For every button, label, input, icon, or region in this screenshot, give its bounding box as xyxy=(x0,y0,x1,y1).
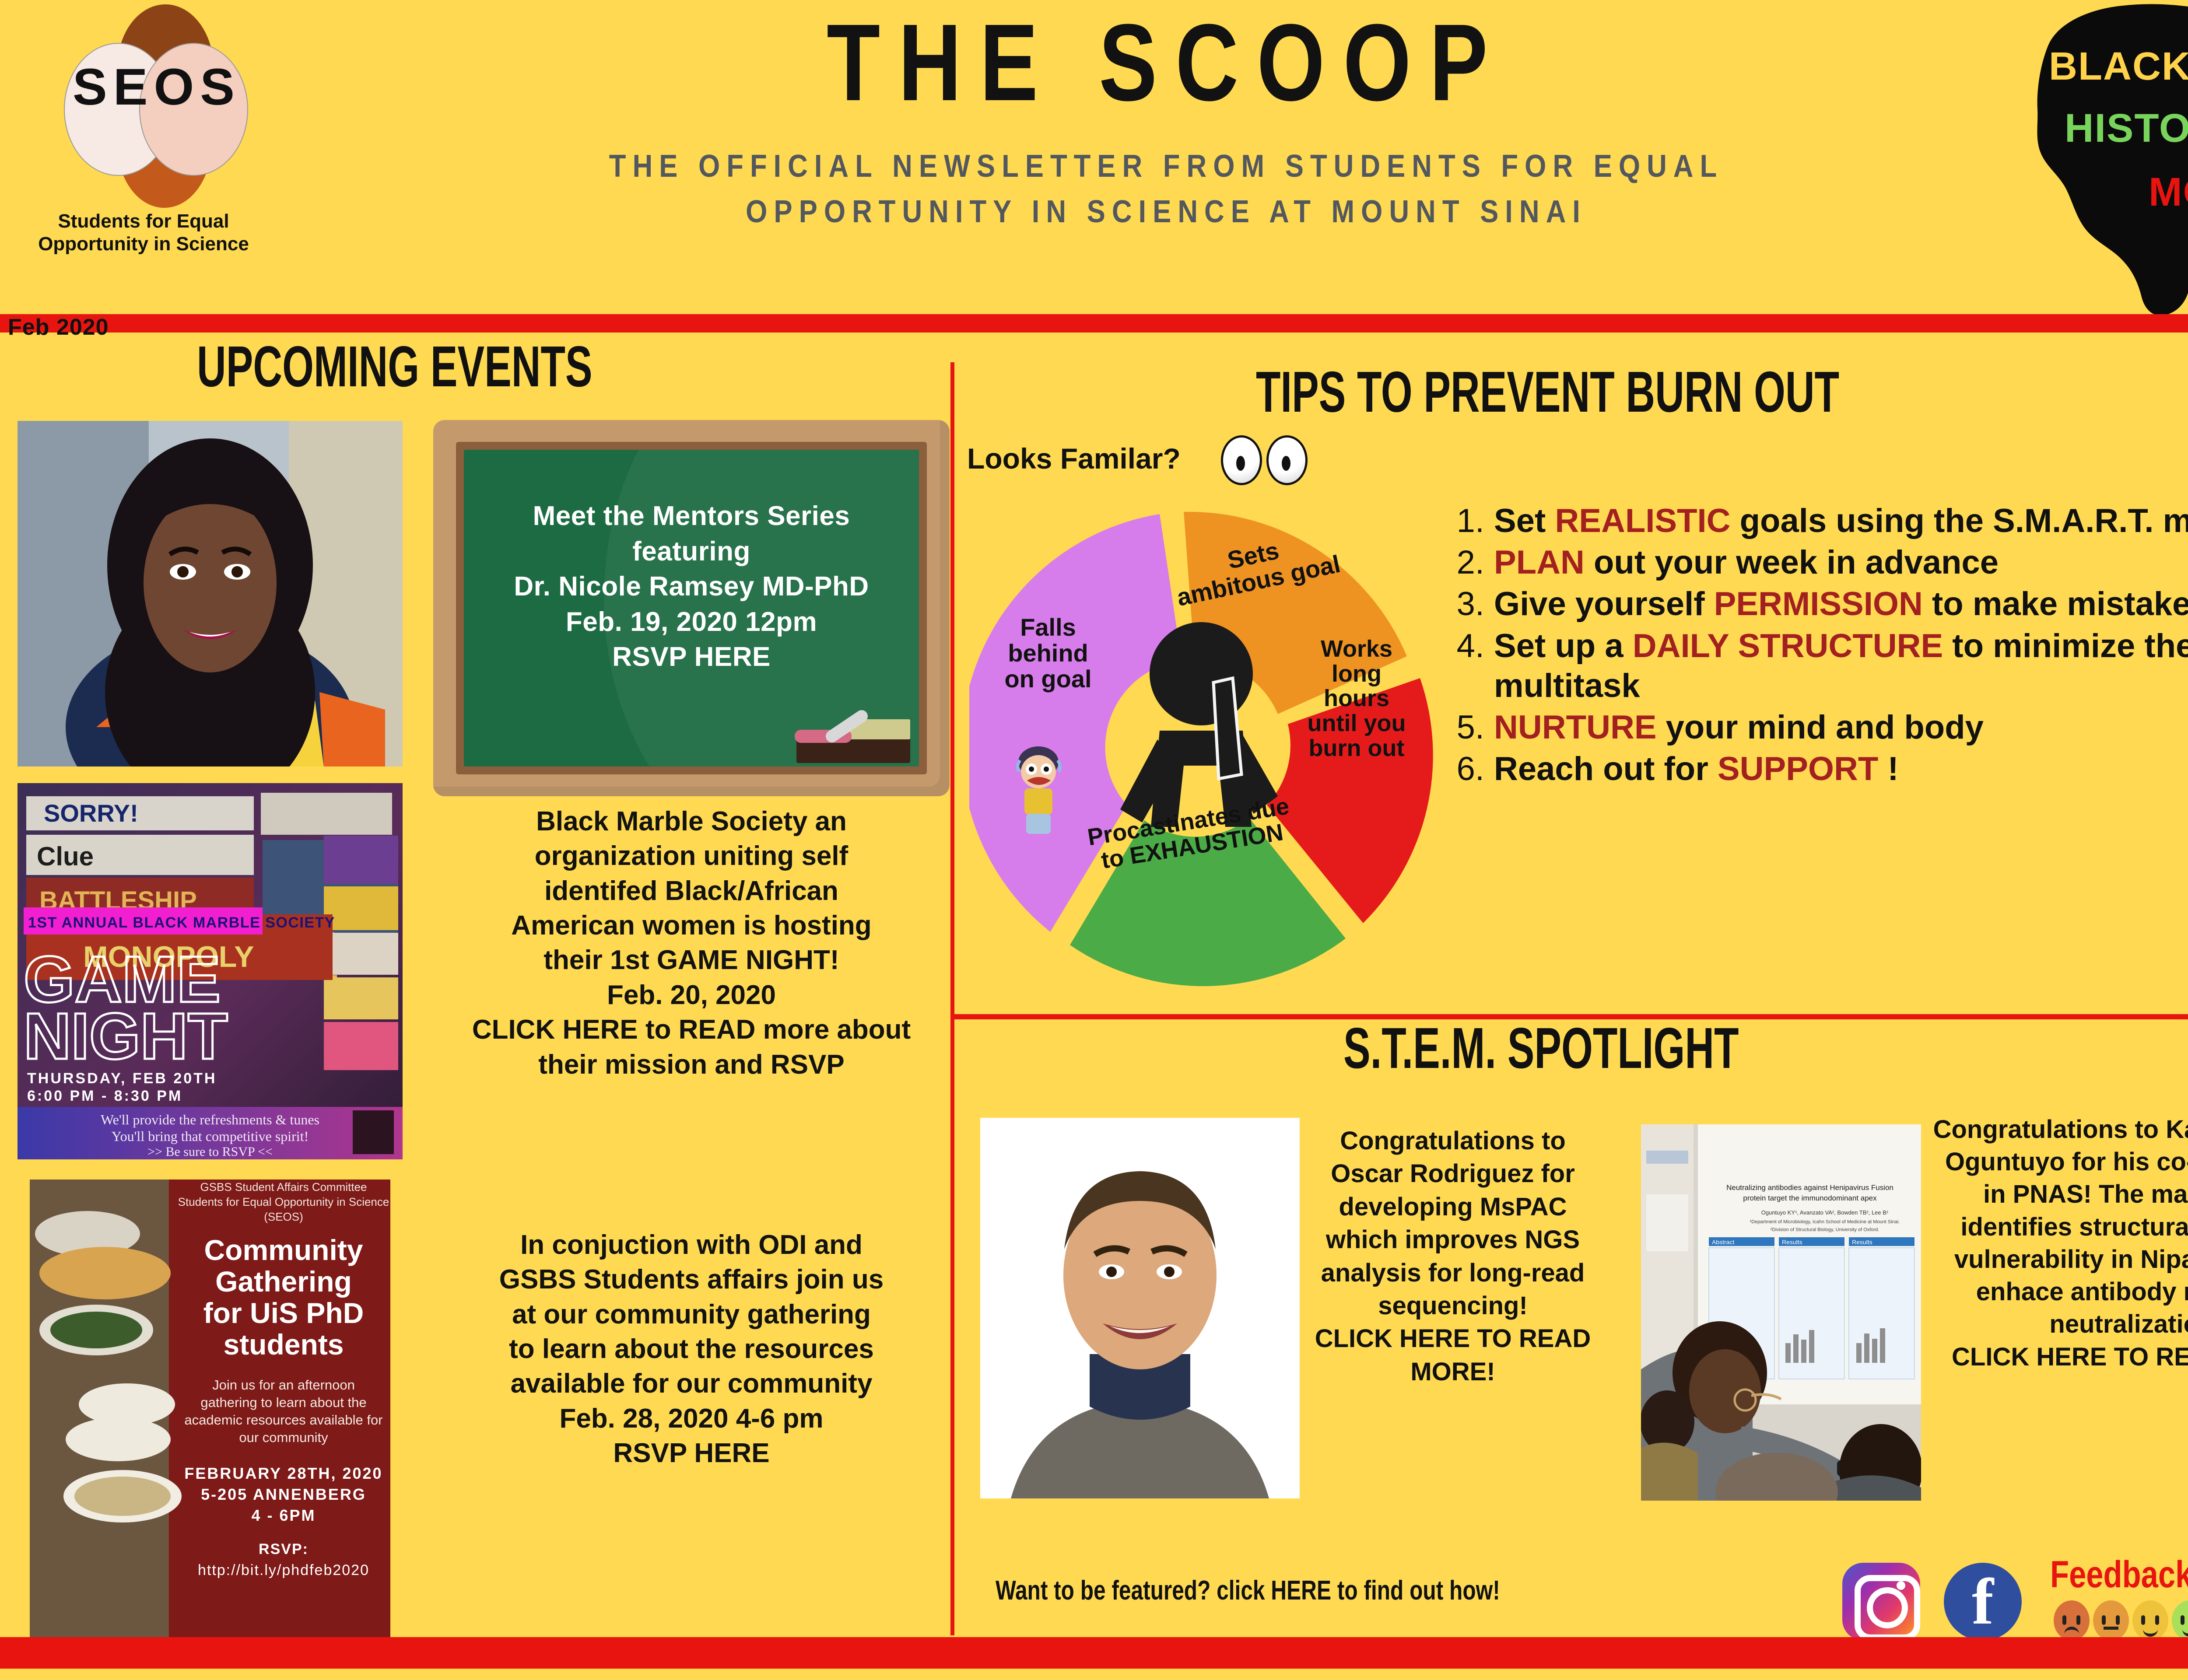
svg-text:THURSDAY, FEB 20TH: THURSDAY, FEB 20TH xyxy=(27,1070,217,1087)
svg-text:Join us for an afternoon: Join us for an afternoon xyxy=(212,1377,355,1393)
feedback-widget[interactable]: Feedback xyxy=(2050,1553,2188,1596)
tip-number: 2. xyxy=(1444,542,1494,582)
svg-text:Abstract: Abstract xyxy=(1712,1239,1734,1246)
tip-item: 3. Give yourself PERMISSION to make mist… xyxy=(1444,584,2188,624)
face-happy-icon[interactable] xyxy=(2172,1600,2188,1641)
chalkboard-text: Meet the Mentors Series featuring Dr. Ni… xyxy=(464,499,919,675)
tip-highlight: SUPPORT xyxy=(1718,750,1878,787)
tip-number: 5. xyxy=(1444,707,1494,747)
bms-line-1: Black Marble Society an xyxy=(414,804,969,839)
tip-number: 6. xyxy=(1444,749,1494,789)
svg-text:gathering to learn about the: gathering to learn about the xyxy=(200,1395,366,1410)
tip-item: 6. Reach out for SUPPORT ! xyxy=(1444,749,2188,789)
facebook-glyph: f xyxy=(1944,1563,2022,1641)
seos-logo: SEOS Students for Equal Opportunity in S… xyxy=(12,4,275,293)
tip-text: Give yourself PERMISSION to make mistake… xyxy=(1494,584,2188,624)
odi-line-1: In conjuction with ODI and xyxy=(414,1228,969,1262)
page-subtitle: THE OFFICIAL NEWSLETTER FROM STUDENTS FO… xyxy=(598,143,1734,235)
googly-eyes-icon xyxy=(1221,435,1306,483)
oscar-body: Congratulations to Oscar Rodriguez for d… xyxy=(1321,1127,1585,1320)
svg-text:our community: our community xyxy=(239,1430,328,1445)
instagram-icon[interactable] xyxy=(1842,1563,1920,1641)
tip-highlight: REALISTIC xyxy=(1555,502,1730,539)
page-title: THE SCOOP xyxy=(827,8,1506,117)
svg-text:²Division of Structural Biolog: ²Division of Structural Biology, Univers… xyxy=(1771,1227,1879,1232)
tip-number: 3. xyxy=(1444,584,1494,624)
eye-right-icon xyxy=(1266,435,1308,485)
svg-text:¹Department of Microbiology, I: ¹Department of Microbiology, Icahn Schoo… xyxy=(1750,1219,1900,1225)
chalk-line-1: Meet the Mentors Series xyxy=(464,499,919,534)
stick-figure-head xyxy=(1150,622,1253,725)
kaso-click-here-link[interactable]: CLICK HERE TO READ MORE! xyxy=(1932,1341,2188,1373)
issue-date: Feb 2020 xyxy=(8,314,109,340)
svg-text:Neutralizing antibodies agains: Neutralizing antibodies against Henipavi… xyxy=(1726,1183,1893,1192)
tip-number: 1. xyxy=(1444,501,1494,541)
facebook-icon[interactable]: f xyxy=(1944,1563,2022,1641)
bms-line-2: organization uniting self xyxy=(414,839,969,873)
chalk-line-3: Dr. Nicole Ramsey MD-PhD xyxy=(464,569,919,605)
looks-familiar-label: Looks Familar? xyxy=(967,442,1181,475)
section-title-stem-spotlight: S.T.E.M. SPOTLIGHT xyxy=(1343,1019,1908,1077)
tip-text: Set REALISTIC goals using the S.M.A.R.T.… xyxy=(1494,501,2188,541)
face-slight-smile-icon[interactable] xyxy=(2132,1600,2168,1641)
burnout-tips-list: 1. Set REALISTIC goals using the S.M.A.R… xyxy=(1444,501,2188,791)
tip-text: PLAN out your week in advance xyxy=(1494,542,1999,582)
footer-red-bar xyxy=(0,1637,2188,1669)
chalkboard-inner-frame: Meet the Mentors Series featuring Dr. Ni… xyxy=(456,442,927,774)
bms-line-8: their mission and RSVP xyxy=(414,1047,969,1082)
svg-text:http://bit.ly/phdfeb2020: http://bit.ly/phdfeb2020 xyxy=(198,1562,369,1578)
chalk-line-4: Feb. 19, 2020 12pm xyxy=(464,605,919,640)
tip-text: Reach out for SUPPORT ! xyxy=(1494,749,1899,789)
stem-oscar-text[interactable]: Congratulations to Oscar Rodriguez for d… xyxy=(1313,1124,1593,1388)
want-to-be-featured-link[interactable]: Want to be featured? click HERE to find … xyxy=(996,1575,1626,1606)
bms-line-3: identifed Black/African xyxy=(414,874,969,908)
oscar-click-here-link[interactable]: CLICK HERE TO READ MORE! xyxy=(1313,1322,1593,1388)
svg-text:4 - 6PM: 4 - 6PM xyxy=(251,1506,316,1524)
svg-text:(SEOS): (SEOS) xyxy=(264,1210,303,1223)
odi-line-2: GSBS Students affairs join us xyxy=(414,1262,969,1297)
bms-line-4: American women is hosting xyxy=(414,908,969,943)
svg-text:FEBRUARY 28TH, 2020: FEBRUARY 28TH, 2020 xyxy=(184,1464,382,1482)
odi-line-3: at our community gathering xyxy=(414,1297,969,1332)
bhm-line-3: MONTH xyxy=(2149,172,2188,212)
photo-oscar-rodriguez xyxy=(980,1118,1300,1498)
photo-nicole-ramsey xyxy=(18,421,403,766)
photo-kaso-poster-session: Neutralizing antibodies against Henipavi… xyxy=(1641,1124,1921,1501)
cycle-label-falls-behind: Falls behind on goal xyxy=(982,615,1114,692)
tip-number: 4. xyxy=(1444,626,1494,666)
tip-item: 4. Set up a DAILY STRUCTURE to minimize … xyxy=(1444,626,2188,706)
feedback-label: Feedback xyxy=(2050,1553,2188,1596)
odi-date: Feb. 28, 2020 4-6 pm xyxy=(414,1401,969,1436)
blurb-black-marble-society[interactable]: Black Marble Society an organization uni… xyxy=(414,804,969,1082)
svg-text:protein target the immunodomin: protein target the immunodominant apex xyxy=(1743,1194,1877,1202)
masthead: THE SCOOP THE OFFICIAL NEWSLETTER FROM S… xyxy=(521,8,1812,235)
bms-date: Feb. 20, 2020 xyxy=(414,978,969,1012)
tip-highlight: NURTURE xyxy=(1494,709,1657,746)
tip-item: 2. PLAN out your week in advance xyxy=(1444,542,2188,582)
section-title-burnout: TIPS TO PREVENT BURN OUT xyxy=(1256,363,2089,421)
chalkboard-mentors-event[interactable]: Meet the Mentors Series featuring Dr. Ni… xyxy=(433,420,950,796)
logo-wordmark: SEOS xyxy=(65,61,249,113)
svg-text:Students for Equal Opportunity: Students for Equal Opportunity in Scienc… xyxy=(178,1195,389,1208)
stem-kaso-text[interactable]: Congratulations to Kasopefoluwa Oguntuyo… xyxy=(1932,1113,2188,1373)
svg-text:6:00 PM - 8:30 PM: 6:00 PM - 8:30 PM xyxy=(27,1088,182,1104)
svg-text:GSBS Student Affairs Committee: GSBS Student Affairs Committee xyxy=(200,1180,367,1193)
section-title-upcoming-events: UPCOMING EVENTS xyxy=(197,338,762,395)
svg-text:Community: Community xyxy=(204,1234,363,1266)
tip-highlight: PERMISSION xyxy=(1714,585,1923,623)
bms-click-here-link[interactable]: CLICK HERE to READ more about xyxy=(414,1012,969,1047)
svg-text:>> Be sure to RSVP <<: >> Be sure to RSVP << xyxy=(147,1144,273,1159)
tip-item: 5. NURTURE your mind and body xyxy=(1444,707,2188,747)
svg-text:academic resources available f: academic resources available for xyxy=(184,1412,382,1428)
svg-text:Results: Results xyxy=(1852,1239,1872,1246)
svg-text:NIGHT: NIGHT xyxy=(24,999,228,1073)
flyer-community-gathering[interactable]: GSBS Student Affairs Committee Students … xyxy=(18,1172,403,1649)
tip-highlight: DAILY STRUCTURE xyxy=(1633,627,1943,665)
face-sad-icon[interactable] xyxy=(2054,1600,2090,1641)
logo-tagline: Students for Equal Opportunity in Scienc… xyxy=(12,210,275,255)
feedback-faces[interactable] xyxy=(2054,1600,2188,1641)
tip-text: NURTURE your mind and body xyxy=(1494,707,1984,747)
svg-text:students: students xyxy=(223,1328,344,1361)
bms-line-5: their 1st GAME NIGHT! xyxy=(414,943,969,977)
svg-text:Results: Results xyxy=(1782,1239,1802,1246)
svg-text:Oguntuyo KY¹, Avanzato VA², Bo: Oguntuyo KY¹, Avanzato VA², Bowden TB², … xyxy=(1761,1209,1889,1216)
svg-text:5-205 ANNENBERG: 5-205 ANNENBERG xyxy=(201,1485,366,1503)
svg-text:Clue: Clue xyxy=(37,842,94,871)
blurb-odi-community-gathering[interactable]: In conjuction with ODI and GSBS Students… xyxy=(414,1228,969,1471)
eye-left-icon xyxy=(1221,435,1262,485)
chalk-line-2: featuring xyxy=(464,534,919,570)
newsletter-header: SEOS Students for Equal Opportunity in S… xyxy=(0,0,2188,314)
header-red-rule xyxy=(0,314,2188,332)
tip-highlight: PLAN xyxy=(1494,544,1585,581)
cycle-label-works-long-hours: Works long hours until you burn out xyxy=(1293,637,1420,760)
odi-rsvp-link[interactable]: RSVP HERE xyxy=(414,1436,969,1470)
face-neutral-icon[interactable] xyxy=(2093,1600,2129,1641)
flyer-game-night[interactable]: SORRY! Clue CATAN BATTLESHIP MONOPOLY 1S… xyxy=(18,783,403,1159)
chalk-rsvp-link[interactable]: RSVP HERE xyxy=(464,640,919,675)
black-history-month-badge: BLACK HISTORY MONTH xyxy=(1956,0,2188,326)
burnout-cycle-diagram: Sets ambitous goal Works long hours unti… xyxy=(969,503,1433,997)
svg-text:RSVP:: RSVP: xyxy=(259,1541,309,1557)
bhm-line-2: HISTORY xyxy=(2065,108,2188,148)
svg-text:Gathering: Gathering xyxy=(215,1265,352,1298)
svg-text:We'll provide the refreshments: We'll provide the refreshments & tunes xyxy=(101,1112,319,1127)
odi-line-4: to learn about the resources xyxy=(414,1332,969,1366)
svg-text:SORRY!: SORRY! xyxy=(44,799,138,827)
odi-line-5: available for our community xyxy=(414,1366,969,1401)
tip-item: 1. Set REALISTIC goals using the S.M.A.R… xyxy=(1444,501,2188,541)
tip-text: Set up a DAILY STRUCTURE to minimize the… xyxy=(1494,626,2188,706)
svg-text:You'll bring that competitive: You'll bring that competitive spirit! xyxy=(112,1128,309,1144)
svg-text:1ST ANNUAL BLACK MARBLE SOCIET: 1ST ANNUAL BLACK MARBLE SOCIETY xyxy=(28,914,335,931)
kaso-body: Congratulations to Kasopefoluwa Oguntuyo… xyxy=(1933,1115,2188,1338)
svg-text:for UiS PhD: for UiS PhD xyxy=(203,1297,364,1329)
logo-blobs: SEOS xyxy=(12,4,275,214)
chalkboard-surface: Meet the Mentors Series featuring Dr. Ni… xyxy=(464,450,919,766)
bhm-line-1: BLACK xyxy=(2049,47,2188,86)
